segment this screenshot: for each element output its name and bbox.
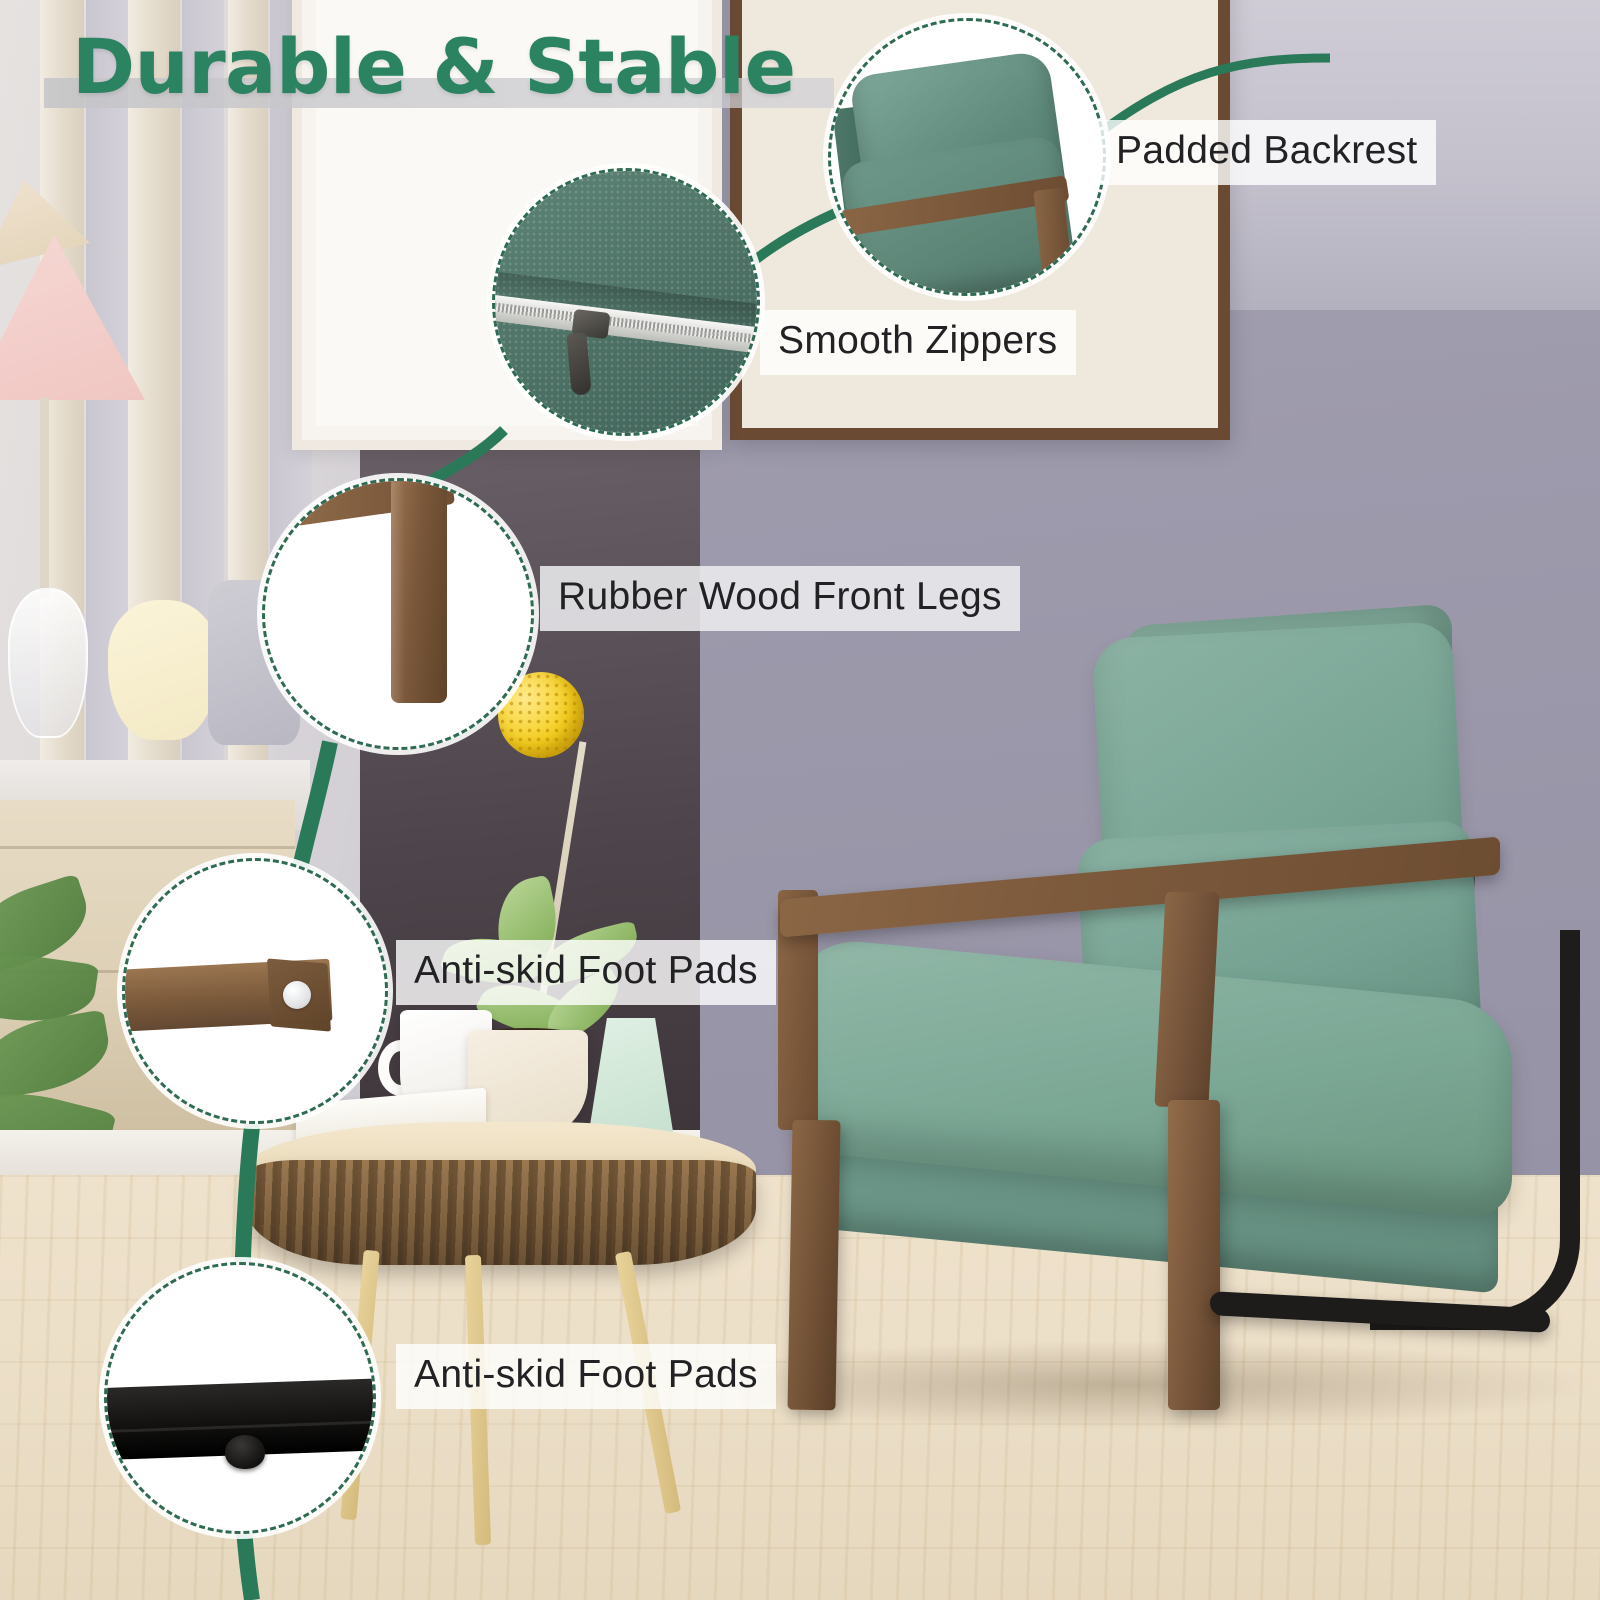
- vase-cream: [108, 600, 218, 740]
- side-table-bark-edge: [246, 1160, 756, 1265]
- infographic-canvas: Durable & Stable Padded Backrest Smooth …: [0, 0, 1600, 1600]
- callout-anti-skid-foot-pads-wood: [122, 858, 388, 1124]
- chair-armrest-front-post: [1154, 892, 1219, 1108]
- feature-label-padded-backrest: Padded Backrest: [1098, 120, 1436, 185]
- feature-label-smooth-zippers: Smooth Zippers: [760, 310, 1076, 375]
- chair-front-leg-left: [787, 1120, 840, 1411]
- vase-glass: [8, 588, 88, 738]
- callout-rubber-wood-front-legs: [262, 478, 534, 750]
- callout-padded-backrest: [828, 18, 1106, 296]
- page-title: Durable & Stable: [72, 22, 796, 111]
- feature-label-anti-skid-foot-pads-metal: Anti-skid Foot Pads: [396, 1344, 776, 1409]
- chair-front-leg-right: [1168, 1100, 1220, 1410]
- feature-label-rubber-wood-front-legs: Rubber Wood Front Legs: [540, 566, 1020, 631]
- callout-anti-skid-foot-pads-metal: [104, 1262, 376, 1534]
- product-armchair: [770, 600, 1600, 1410]
- callout-smooth-zippers: [492, 168, 760, 436]
- lamp-stem: [40, 398, 49, 598]
- feature-label-anti-skid-foot-pads-wood: Anti-skid Foot Pads: [396, 940, 776, 1005]
- anti-skid-pad-icon: [225, 1435, 265, 1469]
- anti-skid-pad-icon: [283, 981, 311, 1009]
